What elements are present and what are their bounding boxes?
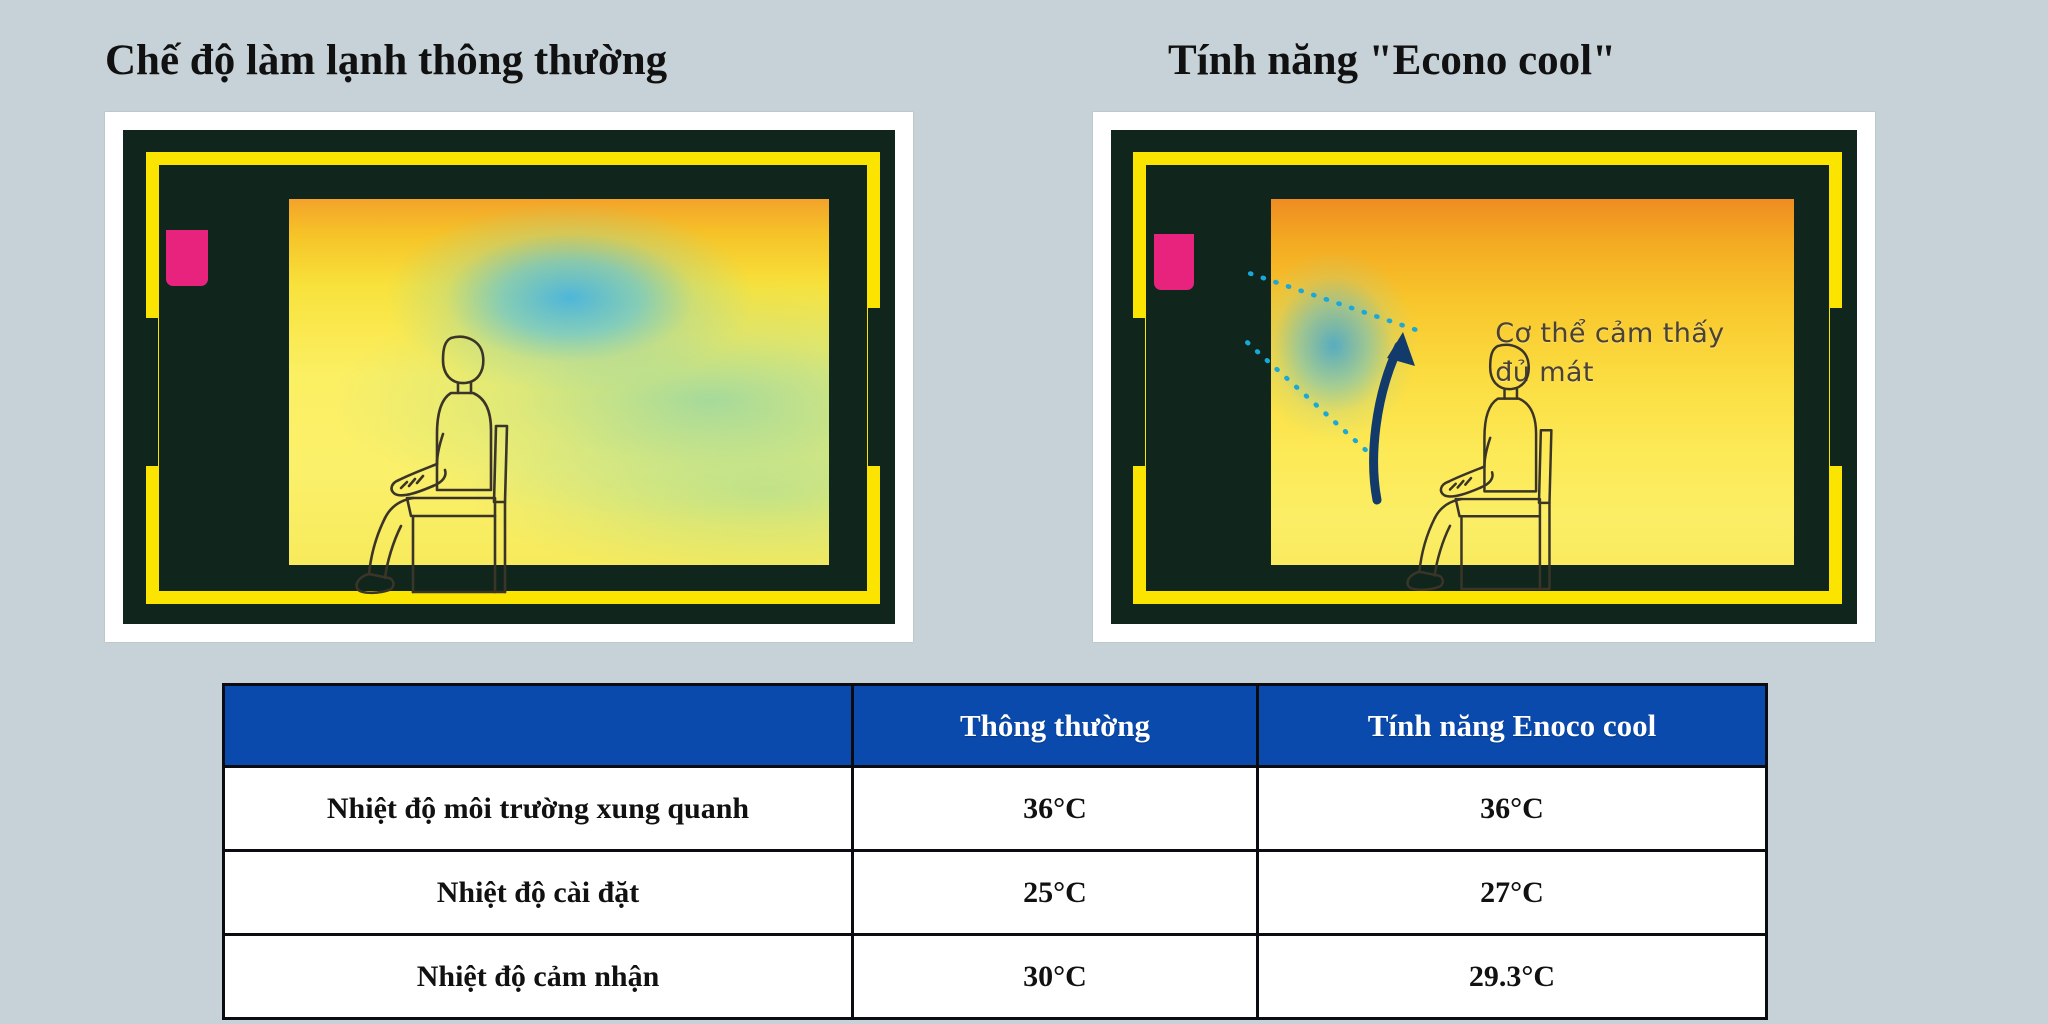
row-value-ambient-normal: 36°C [853,767,1258,851]
illustration-normal-cooling [105,112,913,642]
table-header-normal: Thông thường [853,685,1258,767]
table-header-econo: Tính năng Enoco cool [1258,685,1767,767]
table-row: Nhiệt độ cảm nhận 30°C 29.3°C [224,935,1767,1019]
panel-title-normal: Chế độ làm lạnh thông thường [105,36,667,85]
row-value-setpoint-normal: 25°C [853,851,1258,935]
frame-gap-left-normal [141,318,158,466]
illustration-econo-cool: Cơ thể cảm thấy đủ mát [1093,112,1875,642]
row-label-perceived: Nhiệt độ cảm nhận [224,935,853,1019]
table-header-blank [224,685,853,767]
table-header-row: Thông thường Tính năng Enoco cool [224,685,1767,767]
row-label-ambient: Nhiệt độ môi trường xung quanh [224,767,853,851]
seated-person-normal [355,330,585,600]
comparison-table: Thông thường Tính năng Enoco cool Nhiệt … [222,683,1768,1020]
room-normal [123,130,895,624]
row-value-perceived-econo: 29.3°C [1258,935,1767,1019]
seated-person-econo [1406,335,1626,600]
room-econo: Cơ thể cảm thấy đủ mát [1111,130,1857,624]
row-value-perceived-normal: 30°C [853,935,1258,1019]
air-conditioner-unit-normal [166,230,208,286]
row-value-setpoint-econo: 27°C [1258,851,1767,935]
frame-gap-right-normal [868,308,885,466]
row-value-ambient-econo: 36°C [1258,767,1767,851]
panel-title-econo: Tính năng "Econo cool" [1168,36,1616,85]
row-label-setpoint: Nhiệt độ cài đặt [224,851,853,935]
table-row: Nhiệt độ cài đặt 25°C 27°C [224,851,1767,935]
table-row: Nhiệt độ môi trường xung quanh 36°C 36°C [224,767,1767,851]
